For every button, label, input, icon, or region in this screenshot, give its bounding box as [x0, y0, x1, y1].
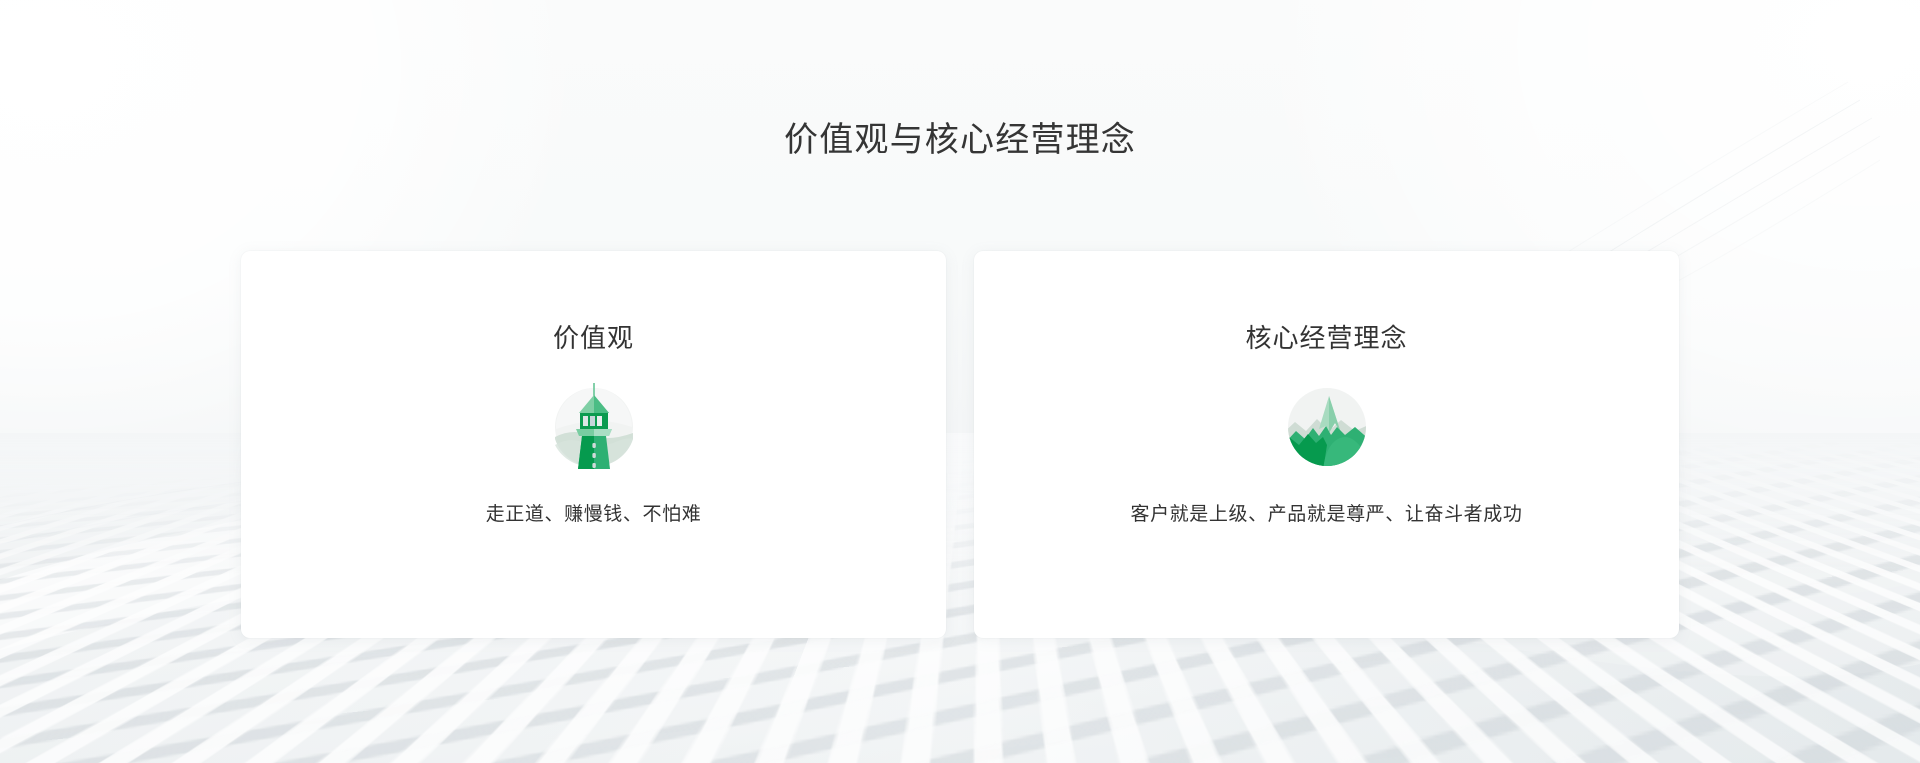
card-core-philosophy-text: 客户就是上级、产品就是尊严、让奋斗者成功 — [1106, 501, 1546, 529]
page-title: 价值观与核心经营理念 — [0, 117, 1920, 163]
mountain-icon — [1279, 379, 1375, 475]
cards-row: 价值观 — [241, 251, 1679, 638]
card-values[interactable]: 价值观 — [241, 251, 946, 638]
card-values-text: 走正道、赚慢钱、不怕难 — [462, 501, 726, 529]
values-section: 价值观与核心经营理念 价值观 — [0, 0, 1920, 763]
card-core-philosophy-title: 核心经营理念 — [1245, 321, 1407, 355]
lighthouse-icon — [546, 379, 642, 475]
card-core-philosophy[interactable]: 核心经营理念 — [974, 251, 1679, 638]
card-values-title: 价值观 — [553, 321, 634, 355]
